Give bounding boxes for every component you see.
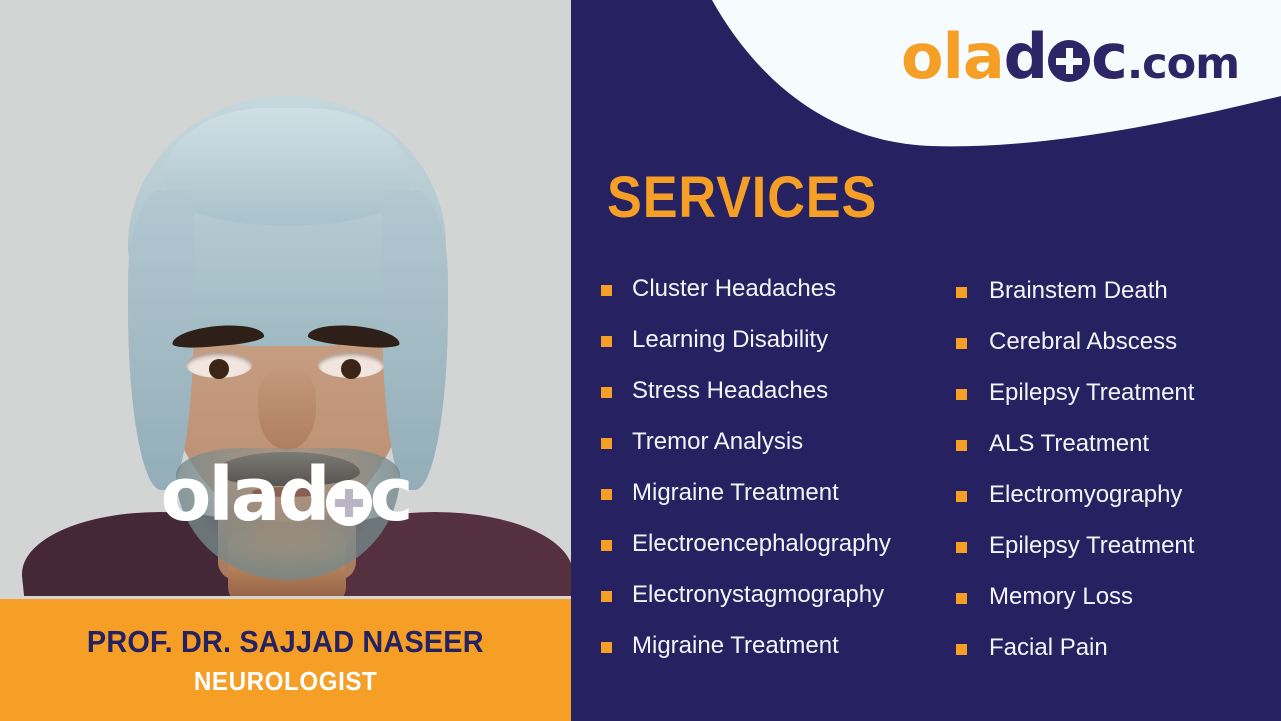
service-list-item[interactable]: Migraine Treatment <box>601 633 951 684</box>
service-list-item[interactable]: Memory Loss <box>956 584 1276 635</box>
service-label: Migraine Treatment <box>632 633 839 659</box>
service-label: Epilepsy Treatment <box>989 380 1194 406</box>
service-label: Electromyography <box>989 482 1182 508</box>
doctor-photo-panel: oladc PROF. DR. SAJJAD NASEER NEUROLOGIS… <box>0 0 571 721</box>
bullet-square-icon <box>601 285 612 296</box>
service-list-item[interactable]: Migraine Treatment <box>601 480 951 531</box>
service-label: Stress Headaches <box>632 378 828 404</box>
bullet-square-icon <box>601 642 612 653</box>
services-column-right: Brainstem DeathCerebral AbscessEpilepsy … <box>956 278 1276 686</box>
services-title: SERVICES <box>607 169 877 227</box>
service-label: Cerebral Abscess <box>989 329 1177 355</box>
service-list-item[interactable]: Electroencephalography <box>601 531 951 582</box>
service-list-item[interactable]: Tremor Analysis <box>601 429 951 480</box>
doctor-name: PROF. DR. SAJJAD NASEER <box>87 624 484 660</box>
service-label: Brainstem Death <box>989 278 1168 304</box>
service-label: Cluster Headaches <box>632 276 836 302</box>
watermark-text-right: c <box>370 452 411 538</box>
service-list-item[interactable]: Electronystagmography <box>601 582 951 633</box>
doctor-name-banner: PROF. DR. SAJJAD NASEER NEUROLOGIST <box>0 599 571 721</box>
pupil-right <box>341 359 361 379</box>
services-panel: oladc.com SERVICES Cluster HeadachesLear… <box>571 0 1281 721</box>
service-label: Epilepsy Treatment <box>989 533 1194 559</box>
logo-text-ola: ola <box>901 20 1004 93</box>
pupil-left <box>209 359 229 379</box>
service-list-item[interactable]: Learning Disability <box>601 327 951 378</box>
bullet-square-icon <box>601 489 612 500</box>
logo-text-c: c <box>1091 20 1127 93</box>
bullet-square-icon <box>601 591 612 602</box>
bullet-square-icon <box>601 540 612 551</box>
logo-plus-icon <box>1048 40 1090 82</box>
bullet-square-icon <box>956 440 967 451</box>
nose <box>258 368 316 450</box>
bullet-square-icon <box>956 491 967 502</box>
bullet-square-icon <box>601 336 612 347</box>
service-label: Migraine Treatment <box>632 480 839 506</box>
service-list-item[interactable]: Cluster Headaches <box>601 276 951 327</box>
doctor-profile-card: oladc PROF. DR. SAJJAD NASEER NEUROLOGIS… <box>0 0 1281 721</box>
service-list-item[interactable]: Cerebral Abscess <box>956 329 1276 380</box>
watermark-text-left: olad <box>161 452 328 538</box>
service-list-item[interactable]: Epilepsy Treatment <box>956 533 1276 584</box>
bullet-square-icon <box>956 542 967 553</box>
hair-fringe <box>165 108 410 226</box>
watermark-plus-icon <box>326 480 372 526</box>
service-label: Tremor Analysis <box>632 429 803 455</box>
bullet-square-icon <box>956 593 967 604</box>
service-list-item[interactable]: Facial Pain <box>956 635 1276 686</box>
logo-text-dotcom: .com <box>1127 39 1239 89</box>
service-label: Facial Pain <box>989 635 1108 661</box>
service-list-item[interactable]: Epilepsy Treatment <box>956 380 1276 431</box>
bullet-square-icon <box>956 644 967 655</box>
bullet-square-icon <box>601 438 612 449</box>
oladoc-photo-watermark: oladc <box>0 458 571 532</box>
bullet-square-icon <box>956 389 967 400</box>
services-column-left: Cluster HeadachesLearning DisabilityStre… <box>601 276 951 684</box>
service-list-item[interactable]: Stress Headaches <box>601 378 951 429</box>
bullet-square-icon <box>956 338 967 349</box>
logo-text-d: d <box>1004 20 1047 93</box>
doctor-specialty: NEUROLOGIST <box>194 666 377 697</box>
service-label: Memory Loss <box>989 584 1133 610</box>
oladoc-logo[interactable]: oladc.com <box>901 26 1239 88</box>
bullet-square-icon <box>956 287 967 298</box>
service-list-item[interactable]: ALS Treatment <box>956 431 1276 482</box>
service-list-item[interactable]: Electromyography <box>956 482 1276 533</box>
service-label: Electroencephalography <box>632 531 891 557</box>
service-label: Electronystagmography <box>632 582 884 608</box>
service-list-item[interactable]: Brainstem Death <box>956 278 1276 329</box>
service-label: Learning Disability <box>632 327 828 353</box>
doctor-portrait-photo: oladc <box>0 0 571 596</box>
bullet-square-icon <box>601 387 612 398</box>
service-label: ALS Treatment <box>989 431 1149 457</box>
